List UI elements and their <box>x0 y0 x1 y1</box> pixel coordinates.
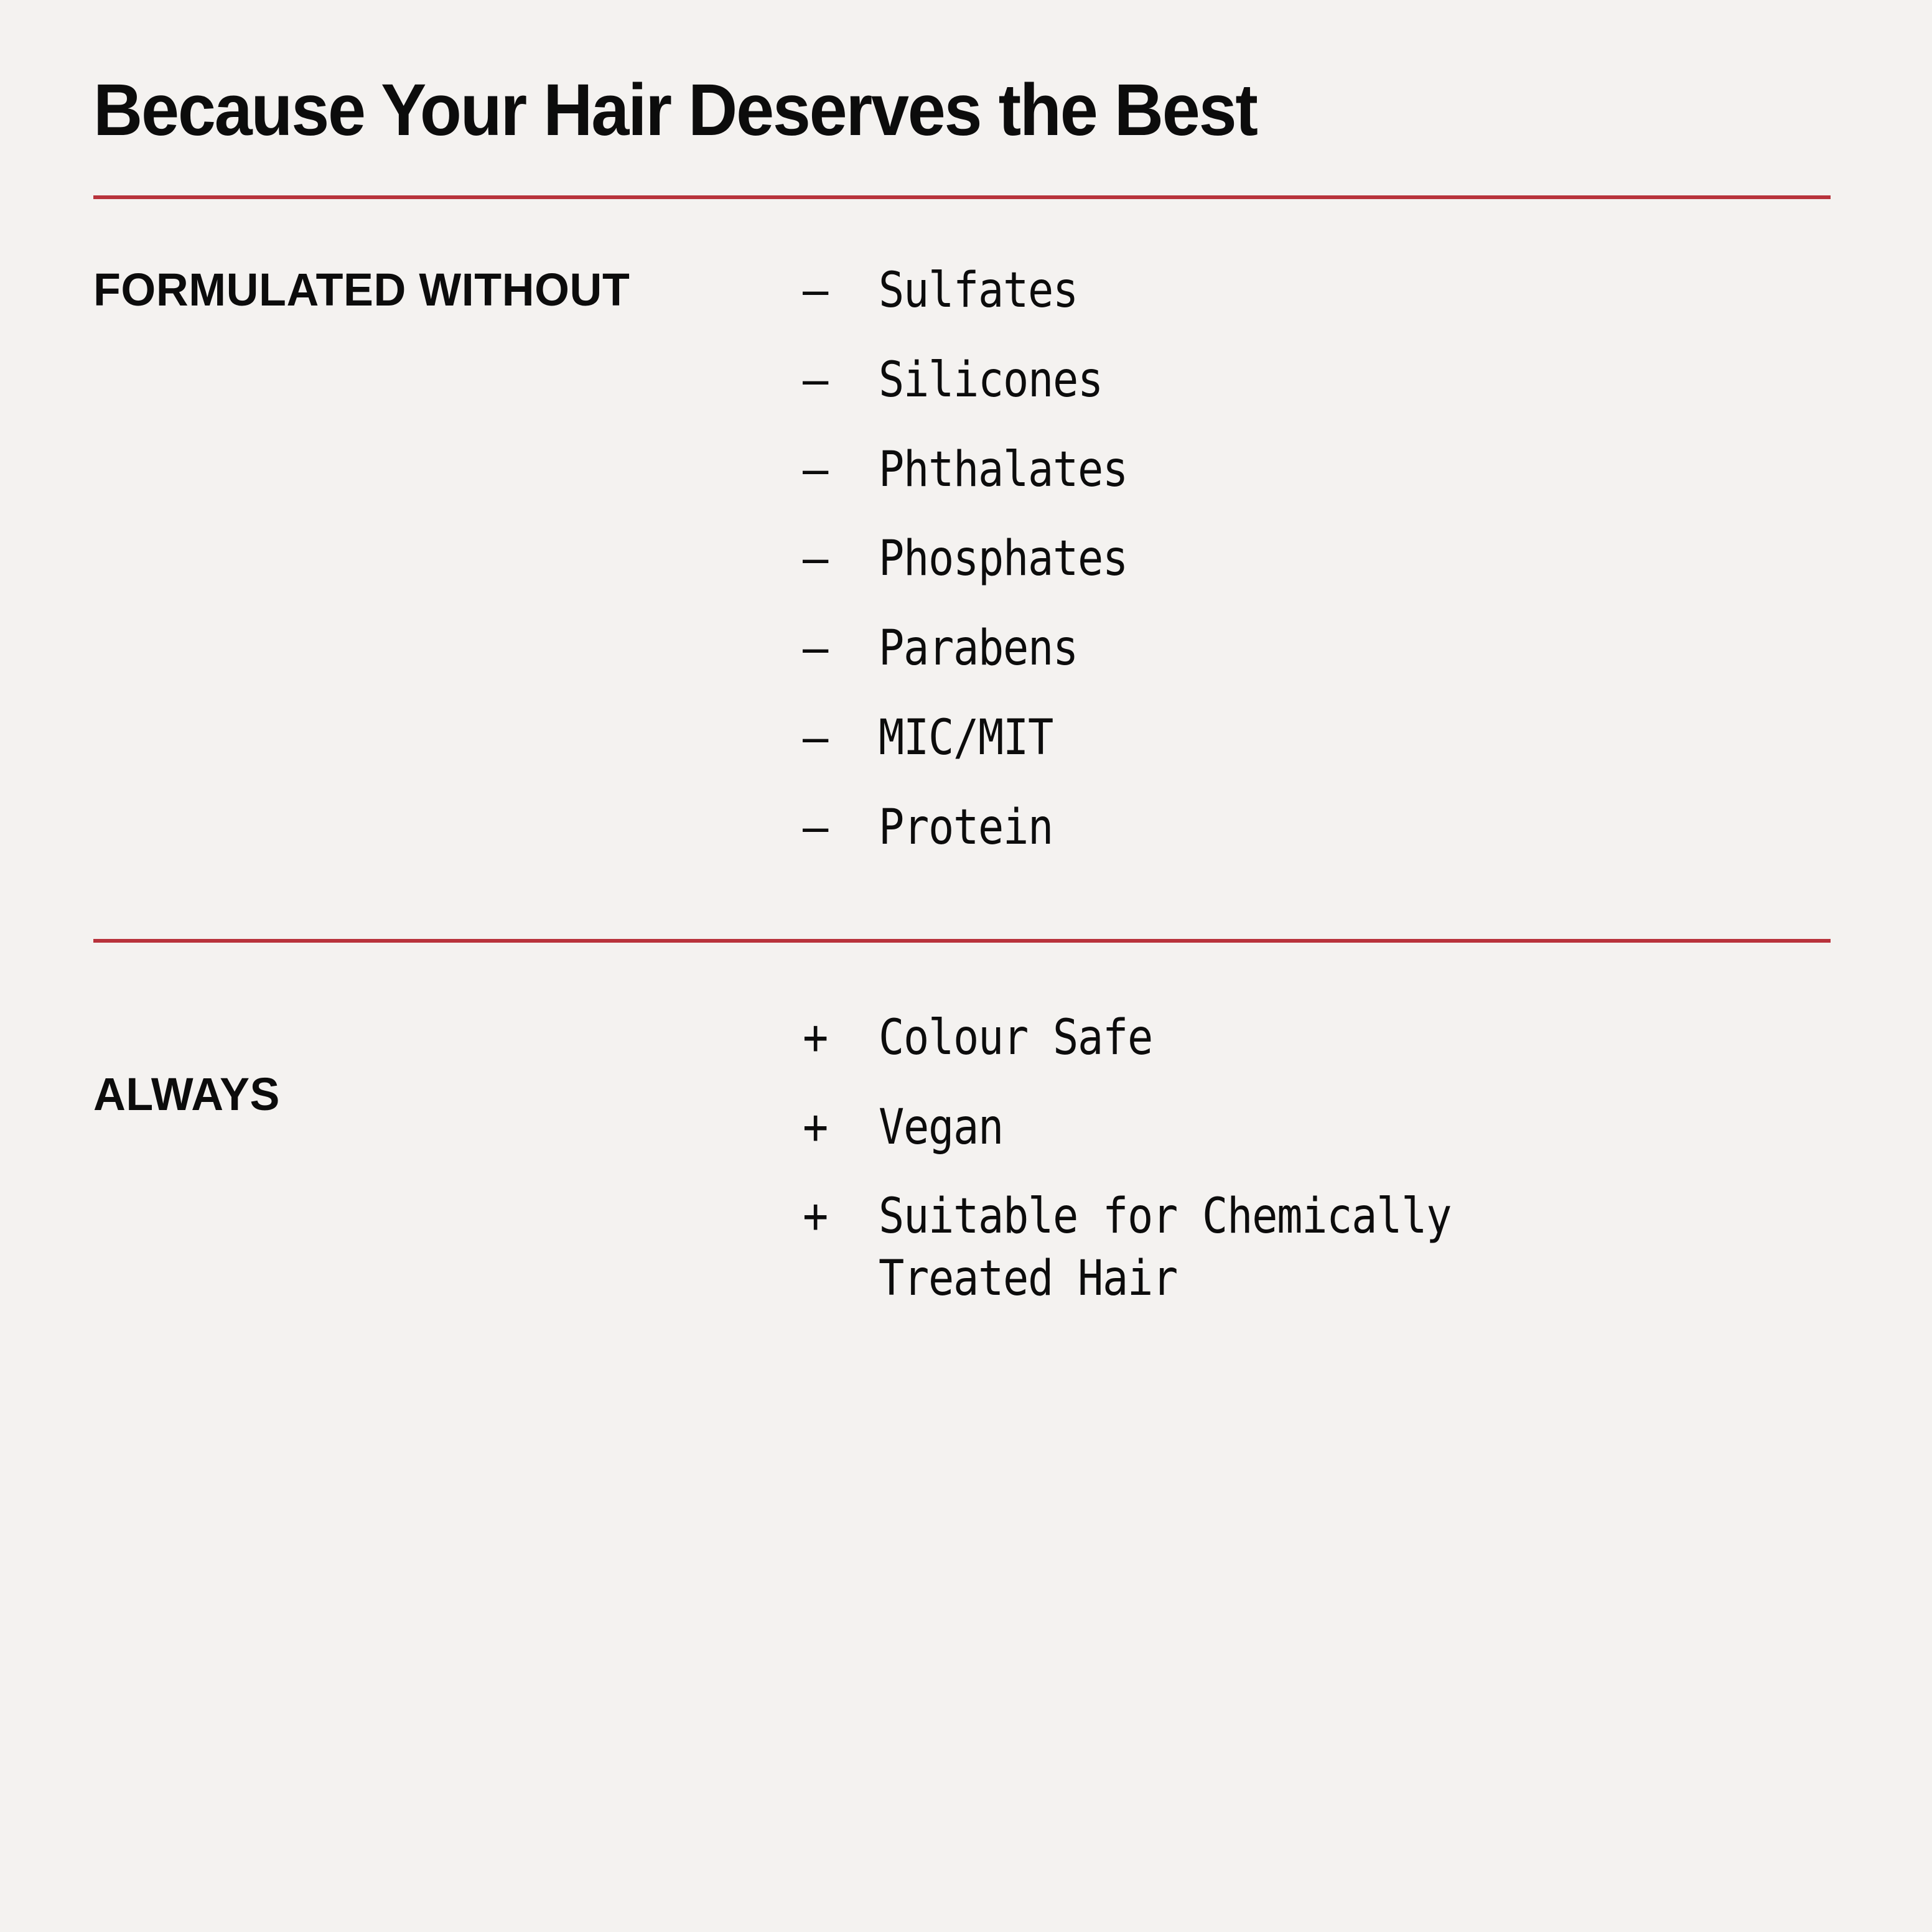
list-item-label: Colour Safe <box>879 1007 1716 1070</box>
list-item-label: MIC/MIT <box>879 707 1716 770</box>
list-item-label: Protein <box>879 797 1716 859</box>
minus-dash-marker: — <box>803 618 869 680</box>
section-formulated-without: FORMULATED WITHOUT — Sulfates — Silicone… <box>93 199 1831 939</box>
minus-dash-marker: — <box>803 350 869 412</box>
list-item: + Suitable for Chemically Treated Hair <box>803 1186 1831 1310</box>
list-item: — Parabens <box>803 618 1831 680</box>
plus-marker: + <box>803 1186 869 1248</box>
list-item: + Vegan <box>803 1097 1831 1159</box>
section-always: ALWAYS + Colour Safe + Vegan + Suitable … <box>93 943 1831 1338</box>
plus-marker: + <box>803 1097 869 1159</box>
list-item-label: Silicones <box>879 350 1716 412</box>
section-label-always: ALWAYS <box>93 1007 782 1121</box>
product-claims-card: Because Your Hair Deserves the Best FORM… <box>0 0 1932 1932</box>
list-item-label: Phthalates <box>879 439 1716 502</box>
minus-dash-marker: — <box>803 439 869 502</box>
list-item: — Protein <box>803 797 1831 859</box>
list-item: + Colour Safe <box>803 1007 1831 1070</box>
list-item-label: Sulfates <box>879 260 1716 322</box>
title-block: Because Your Hair Deserves the Best <box>93 0 1839 147</box>
list-item-label: Vegan <box>879 1097 1716 1159</box>
list-item: — Silicones <box>803 350 1831 412</box>
plus-marker: + <box>803 1007 869 1070</box>
list-item: — MIC/MIT <box>803 707 1831 770</box>
list-item-label: Suitable for Chemically Treated Hair <box>879 1186 1716 1310</box>
section-label-formulated-without: FORMULATED WITHOUT <box>93 260 782 317</box>
minus-dash-marker: — <box>803 528 869 590</box>
minus-dash-marker: — <box>803 797 869 859</box>
list-item: — Sulfates <box>803 260 1831 322</box>
list-item-label: Parabens <box>879 618 1716 680</box>
formulated-without-list: — Sulfates — Silicones — Phthalates — Ph… <box>803 260 1831 887</box>
minus-dash-marker: — <box>803 260 869 322</box>
page-title: Because Your Hair Deserves the Best <box>93 73 1717 147</box>
list-item: — Phthalates <box>803 439 1831 502</box>
always-list: + Colour Safe + Vegan + Suitable for Che… <box>803 1007 1831 1338</box>
list-item-label: Phosphates <box>879 528 1716 590</box>
minus-dash-marker: — <box>803 707 869 770</box>
list-item: — Phosphates <box>803 528 1831 590</box>
